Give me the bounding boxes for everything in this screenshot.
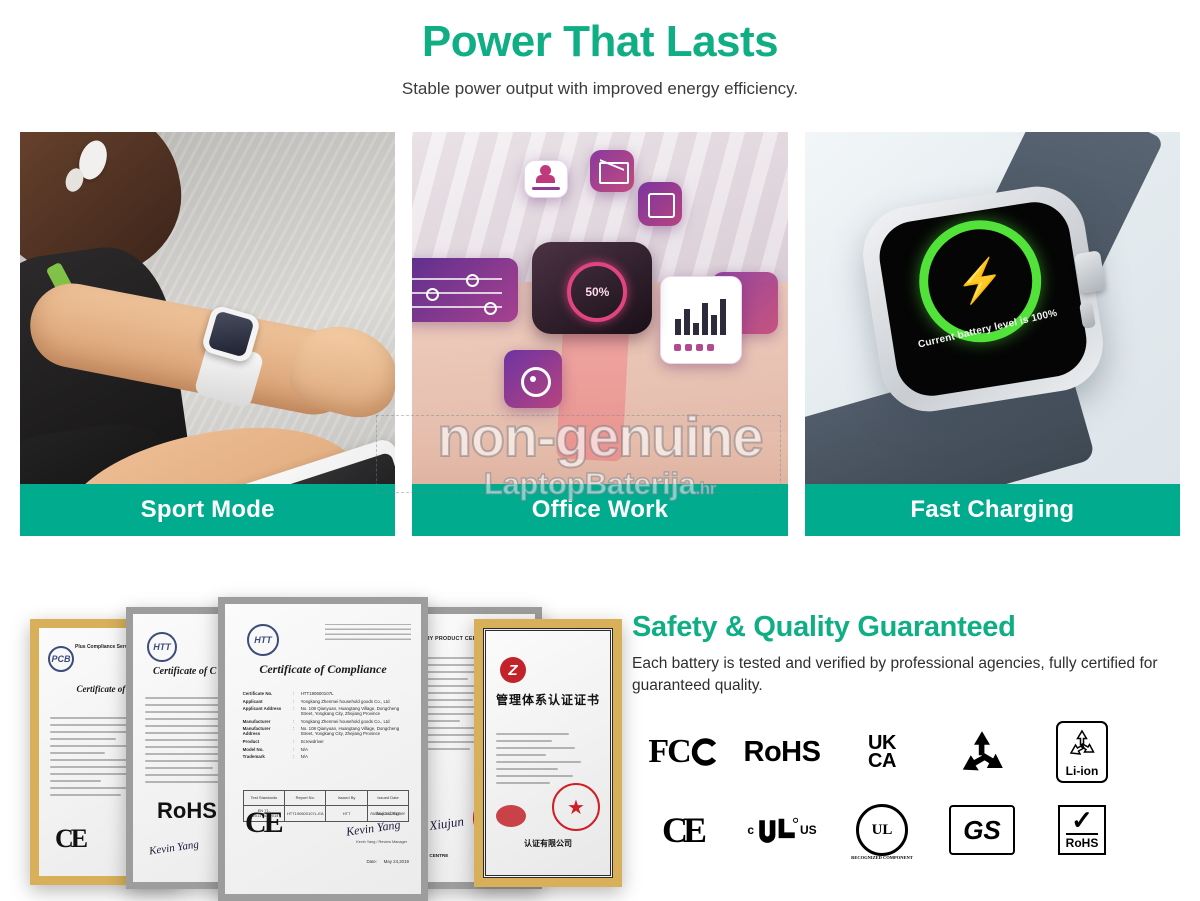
battery-ring-indicator: 50% <box>567 262 627 322</box>
gs-badge: GS <box>932 791 1032 869</box>
calendar-tile <box>638 182 682 226</box>
feature-card-sport-mode[interactable]: Sport Mode <box>20 132 395 536</box>
feature-card-fast-charging[interactable]: ⚡ Current battery level is 100% Fast Cha… <box>805 132 1180 536</box>
ukca-bottom: CA <box>868 750 896 772</box>
rohs-text: RoHS <box>744 736 821 769</box>
safety-panel: Safety & Quality Guaranteed Each battery… <box>632 611 1172 698</box>
ul-letters: UL <box>872 822 893 839</box>
fcc-icon: FC <box>648 733 689 771</box>
pcb-logo-icon: PCB <box>48 646 74 672</box>
htt-logo-icon: HTT <box>247 624 279 656</box>
smartwatch-pink: 50% <box>532 242 652 334</box>
field-row: Trademark:N/A <box>243 754 410 759</box>
feature-card-office-work[interactable]: 50% Office Work <box>412 132 787 536</box>
ul-circle-icon: UL RECOGNIZED COMPONENT <box>856 804 908 856</box>
date-label: Date: <box>367 859 378 864</box>
safety-title: Safety & Quality Guaranteed <box>632 611 1172 644</box>
field-row: Model No.:N/A <box>243 747 410 752</box>
cul-us-icon: c US <box>747 813 816 847</box>
certificate-of-compliance[interactable]: HTT Certificate of Compliance Certificat… <box>218 597 428 901</box>
ce-mark: CE <box>55 824 85 854</box>
chart-tile <box>660 276 742 364</box>
field-row: Certificate No.:HTT190600107L <box>243 691 410 696</box>
li-ion-box: Li-ion <box>1056 721 1108 783</box>
lightning-bolt-icon: ⚡ <box>952 258 1007 305</box>
rohs-mark: RoHS <box>157 798 217 824</box>
table-header-row: Test Standards Report No. Issued By Issu… <box>244 791 409 807</box>
cul-us-badge: c US <box>732 791 832 869</box>
promo-page: Power That Lasts Stable power output wit… <box>0 0 1200 900</box>
field-row: Manufacturer:Yongkang Zhenmei household … <box>243 719 410 724</box>
ukca-icon: UK CA <box>868 734 896 771</box>
office-work-photo: 50% <box>412 132 787 484</box>
page-title: Power That Lasts <box>0 18 1200 66</box>
card-caption-sport-mode: Sport Mode <box>20 484 395 536</box>
page-header: Power That Lasts Stable power output wit… <box>0 0 1200 99</box>
checkmark-icon: ✓ <box>1066 809 1099 832</box>
secondary-seal <box>496 805 526 827</box>
certificate-fields: Certificate No.:HTT190600107L Applicant:… <box>243 691 410 762</box>
certificate-stack: PCB Plus Compliance Services Certificate… <box>22 597 612 877</box>
gs-icon: GS <box>949 805 1015 855</box>
signature-role: Kevin Yang / Review Manager <box>356 840 407 844</box>
card-caption-fast-charging: Fast Charging <box>805 484 1180 536</box>
ce-badge: CE <box>632 791 732 869</box>
ce-icon: CE <box>662 809 702 851</box>
bottom-section: PCB Plus Compliance Services Certificate… <box>0 575 1200 900</box>
watch-screen: ⚡ Current battery level is 100% <box>874 197 1091 401</box>
recycle-badge <box>932 713 1032 791</box>
red-star-seal: ★ <box>552 783 600 831</box>
recycle-outline-icon <box>1065 728 1099 758</box>
fast-charging-photo: ⚡ Current battery level is 100% <box>805 132 1180 484</box>
feature-card-row: Sport Mode <box>20 132 1180 536</box>
htt-logo-icon: HTT <box>147 632 177 662</box>
sliders-tile <box>412 258 518 322</box>
digital-crown <box>1074 250 1106 294</box>
rohs-check-badge: ✓ RoHS <box>1032 791 1132 869</box>
rohs-badge: RoHS <box>732 713 832 791</box>
cnas-logo-icon: Z <box>500 657 526 683</box>
field-row: Product:Screwdriver <box>243 739 410 744</box>
page-subtitle: Stable power output with improved energy… <box>0 79 1200 99</box>
card-caption-office-work: Office Work <box>412 484 787 536</box>
date-value: May 24,2019 <box>384 859 409 864</box>
ce-mark: CE <box>245 806 281 840</box>
rohs-check-box: ✓ RoHS <box>1058 805 1107 854</box>
certificate-title: 管理体系认证证书 <box>486 691 610 708</box>
contact-tile <box>524 160 568 198</box>
cul-suffix: US <box>800 823 817 837</box>
li-ion-badge: Li-ion <box>1032 713 1132 791</box>
certificate-footer: 认证有限公司 <box>486 838 610 849</box>
gear-tile <box>504 350 562 408</box>
sport-mode-photo <box>20 132 395 484</box>
field-row: Applicant:Yongkang Zhenmei household goo… <box>243 699 410 704</box>
ul-sub-text: RECOGNIZED COMPONENT <box>847 855 917 861</box>
cul-prefix: c <box>747 823 754 837</box>
fcc-c-glyph <box>690 737 716 767</box>
field-row: Manufacturer Address:No. 108 Qianyuan, H… <box>243 726 410 736</box>
li-ion-label: Li-ion <box>1065 764 1099 778</box>
certificate-title: Certificate of Compliance <box>225 662 421 677</box>
safety-description: Each battery is tested and verified by p… <box>632 653 1172 698</box>
certification-badges: FC RoHS UK CA <box>632 713 1132 869</box>
badge-row-one: FC RoHS UK CA <box>632 713 1132 791</box>
ul-recognized-badge: UL RECOGNIZED COMPONENT <box>832 791 932 869</box>
ukca-badge: UK CA <box>832 713 932 791</box>
ul-mark-icon <box>756 813 798 847</box>
recycle-icon <box>956 728 1008 776</box>
rohs-check-label: RoHS <box>1066 833 1099 850</box>
fcc-badge: FC <box>632 713 732 791</box>
smartwatch-silver: ⚡ Current battery level is 100% <box>856 180 1109 419</box>
certificate-header-text <box>325 624 411 640</box>
mail-tile <box>590 150 634 192</box>
badge-row-two: CE c US UL <box>632 791 1132 869</box>
signature-label: Authorized Signer <box>370 811 405 816</box>
certificate-cn-system[interactable]: Z 管理体系认证证书 ★ 认证有限公司 <box>474 619 622 887</box>
field-row: Applicant Address:No. 108 Qianyuan, Huan… <box>243 706 410 716</box>
battery-percent-value: 50% <box>571 266 623 318</box>
